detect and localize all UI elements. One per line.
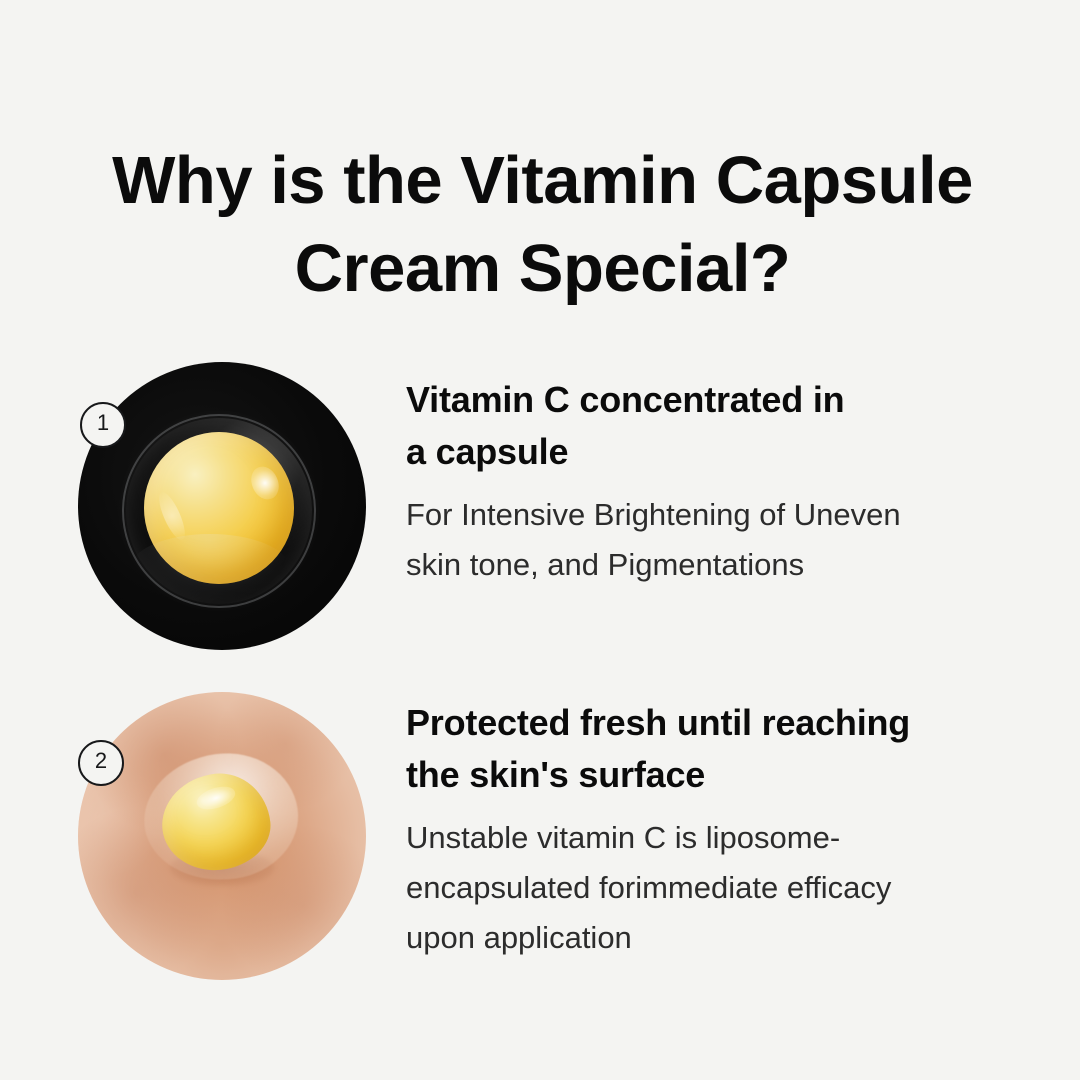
feature-1-heading: Vitamin C concentrated in a capsule	[406, 374, 1026, 478]
feature-2-heading-line-2: the skin's surface	[406, 749, 1026, 801]
capsule-bursting-on-skin-photo	[78, 692, 366, 980]
feature-2-description-line-1: Unstable vitamin C is liposome-	[406, 813, 1026, 863]
feature-1-copy: Vitamin C concentrated in a capsule For …	[406, 374, 1026, 590]
feature-1-description: For Intensive Brightening of Uneven skin…	[406, 490, 1026, 590]
feature-2-description-line-2: encapsulated forimmediate efficacy	[406, 863, 1026, 913]
feature-2-image	[78, 692, 366, 980]
step-badge-2: 2	[78, 740, 124, 786]
feature-2-description-line-3: upon application	[406, 913, 1026, 963]
feature-2-description: Unstable vitamin C is liposome- encapsul…	[406, 813, 1026, 963]
page-title-line-2: Cream Special?	[70, 225, 1015, 313]
step-badge-1: 1	[80, 402, 126, 448]
infographic-page: Why is the Vitamin Capsule Cream Special…	[0, 0, 1080, 1080]
feature-1-heading-line-1: Vitamin C concentrated in	[406, 374, 1026, 426]
vitamin-capsule-on-black-background-photo	[78, 362, 366, 650]
feature-2-copy: Protected fresh until reaching the skin'…	[406, 697, 1026, 963]
page-title-line-1: Why is the Vitamin Capsule	[70, 137, 1015, 225]
page-title: Why is the Vitamin Capsule Cream Special…	[70, 137, 1015, 313]
feature-2-heading: Protected fresh until reaching the skin'…	[406, 697, 1026, 801]
feature-1-image	[78, 362, 366, 650]
feature-1-description-line-1: For Intensive Brightening of Uneven	[406, 490, 1026, 540]
capsule-rim-light	[130, 534, 290, 604]
feature-1-heading-line-2: a capsule	[406, 426, 1026, 478]
feature-2-heading-line-1: Protected fresh until reaching	[406, 697, 1026, 749]
feature-1-description-line-2: skin tone, and Pigmentations	[406, 540, 1026, 590]
